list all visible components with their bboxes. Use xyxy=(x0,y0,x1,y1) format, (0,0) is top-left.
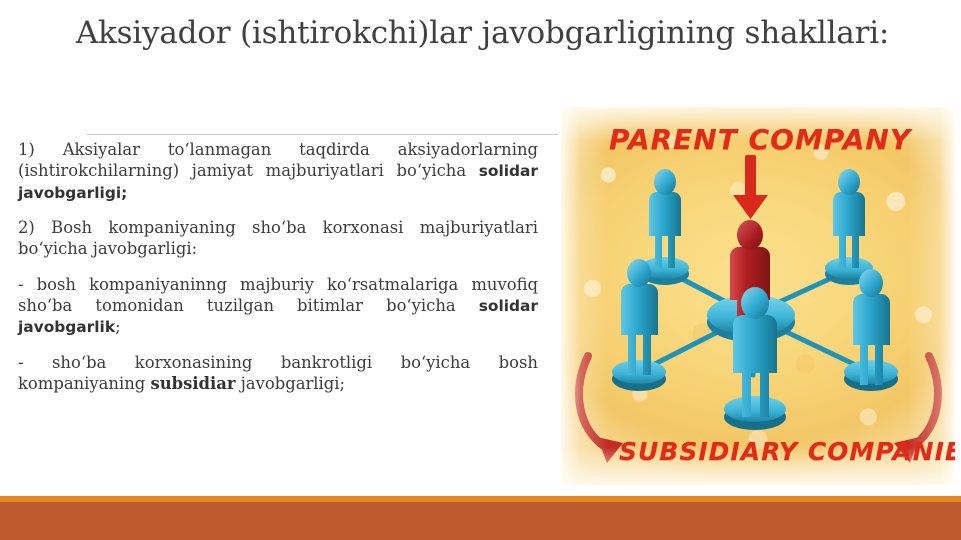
list-item: - sho‘ba korxonasining bankrotligi bo‘yi… xyxy=(18,352,538,395)
diagram-graphic xyxy=(561,107,955,485)
list-item: 1) Aksiyalar to‘lanmagan taqdirda aksiya… xyxy=(18,139,538,203)
list-item: 2) Bosh kompaniyaning sho‘ba korxonasi m… xyxy=(18,217,538,260)
paragraph-lead-text: 2) Bosh kompaniyaning sho‘ba korxonasi m… xyxy=(18,218,538,258)
subsidiary-companies-label: SUBSIDIARY COMPANIES xyxy=(619,437,955,466)
paragraph-emphasis-text: subsidiar xyxy=(151,374,236,393)
parent-company-label: PARENT COMPANY xyxy=(609,123,911,156)
subsidiary-right-curved-arrow-icon xyxy=(912,356,938,447)
body-text-column: 1) Aksiyalar to‘lanmagan taqdirda aksiya… xyxy=(18,139,538,394)
subsidiary-figure-right xyxy=(844,269,898,391)
subsidiary-left-curved-arrow-icon xyxy=(579,356,605,447)
page-title: Aksiyador (ishtirokchi)lar javobgarligin… xyxy=(60,14,905,54)
content-divider-rule xyxy=(87,134,558,135)
paragraph-lead-text: - bosh kompaniyaninng majburiy ko‘rsatma… xyxy=(18,275,538,315)
footer-terracotta-band xyxy=(0,502,961,540)
paragraph-tail-text: javobgarligi; xyxy=(236,374,346,393)
parent-down-arrow-icon xyxy=(733,155,768,219)
list-item: - bosh kompaniyaninng majburiy ko‘rsatma… xyxy=(18,274,538,338)
subsidiary-figure-top-right xyxy=(825,169,873,285)
paragraph-tail-text: ; xyxy=(115,317,121,336)
paragraph-lead-text: 1) Aksiyalar to‘lanmagan taqdirda aksiya… xyxy=(18,140,538,180)
parent-subsidiary-diagram-image: PARENT COMPANY SUBSIDIARY COMPANIES xyxy=(561,107,955,485)
